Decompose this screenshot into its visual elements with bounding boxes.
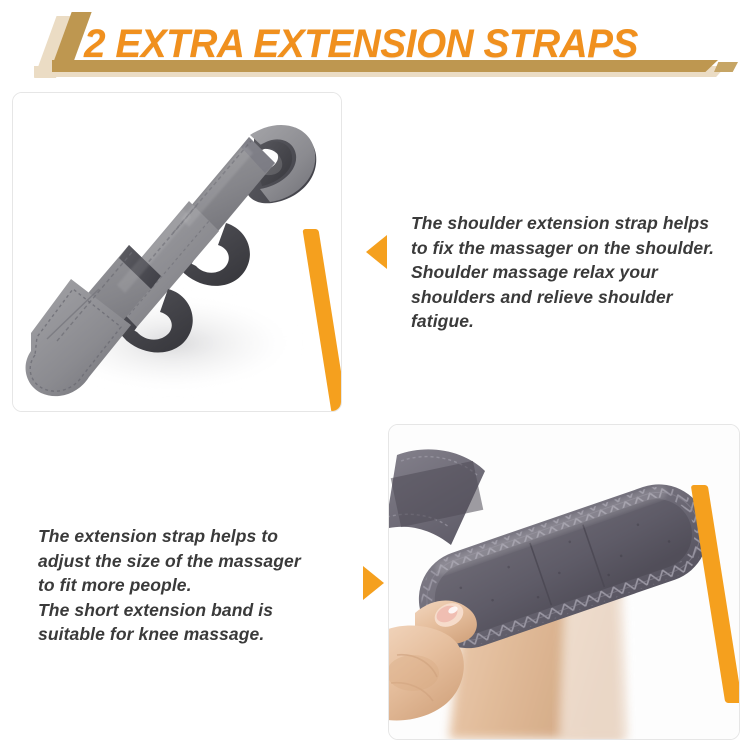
product-photo-coiled-strap <box>12 92 342 412</box>
hand-holding-band-illustration <box>389 425 739 739</box>
text-line: fatigue. <box>411 309 727 334</box>
extension-description: The extension strap helps to adjust the … <box>38 524 350 647</box>
text-line: The shoulder extension strap helps <box>411 211 727 236</box>
text-line: adjust the size of the massager <box>38 549 350 574</box>
pointer-triangle-right-icon <box>363 566 384 600</box>
header-banner: 2 EXTRA EXTENSION STRAPS <box>0 0 750 92</box>
text-line: to fit more people. <box>38 573 350 598</box>
text-line: Shoulder massage relax your <box>411 260 727 285</box>
text-line: shoulders and relieve shoulder <box>411 285 727 310</box>
text-line: The short extension band is <box>38 598 350 623</box>
text-line: suitable for knee massage. <box>38 622 350 647</box>
page-title: 2 EXTRA EXTENSION STRAPS <box>84 22 638 66</box>
text-line: to fix the massager on the shoulder. <box>411 236 727 261</box>
chevron-gold-spur <box>714 62 738 72</box>
pointer-triangle-left-icon <box>366 235 387 269</box>
infographic-canvas: 2 EXTRA EXTENSION STRAPS <box>0 0 750 750</box>
text-line: The extension strap helps to <box>38 524 350 549</box>
product-photo-hand-holding-band <box>388 424 740 740</box>
shoulder-description: The shoulder extension strap helps to fi… <box>411 211 727 334</box>
coiled-strap-illustration <box>13 93 341 411</box>
